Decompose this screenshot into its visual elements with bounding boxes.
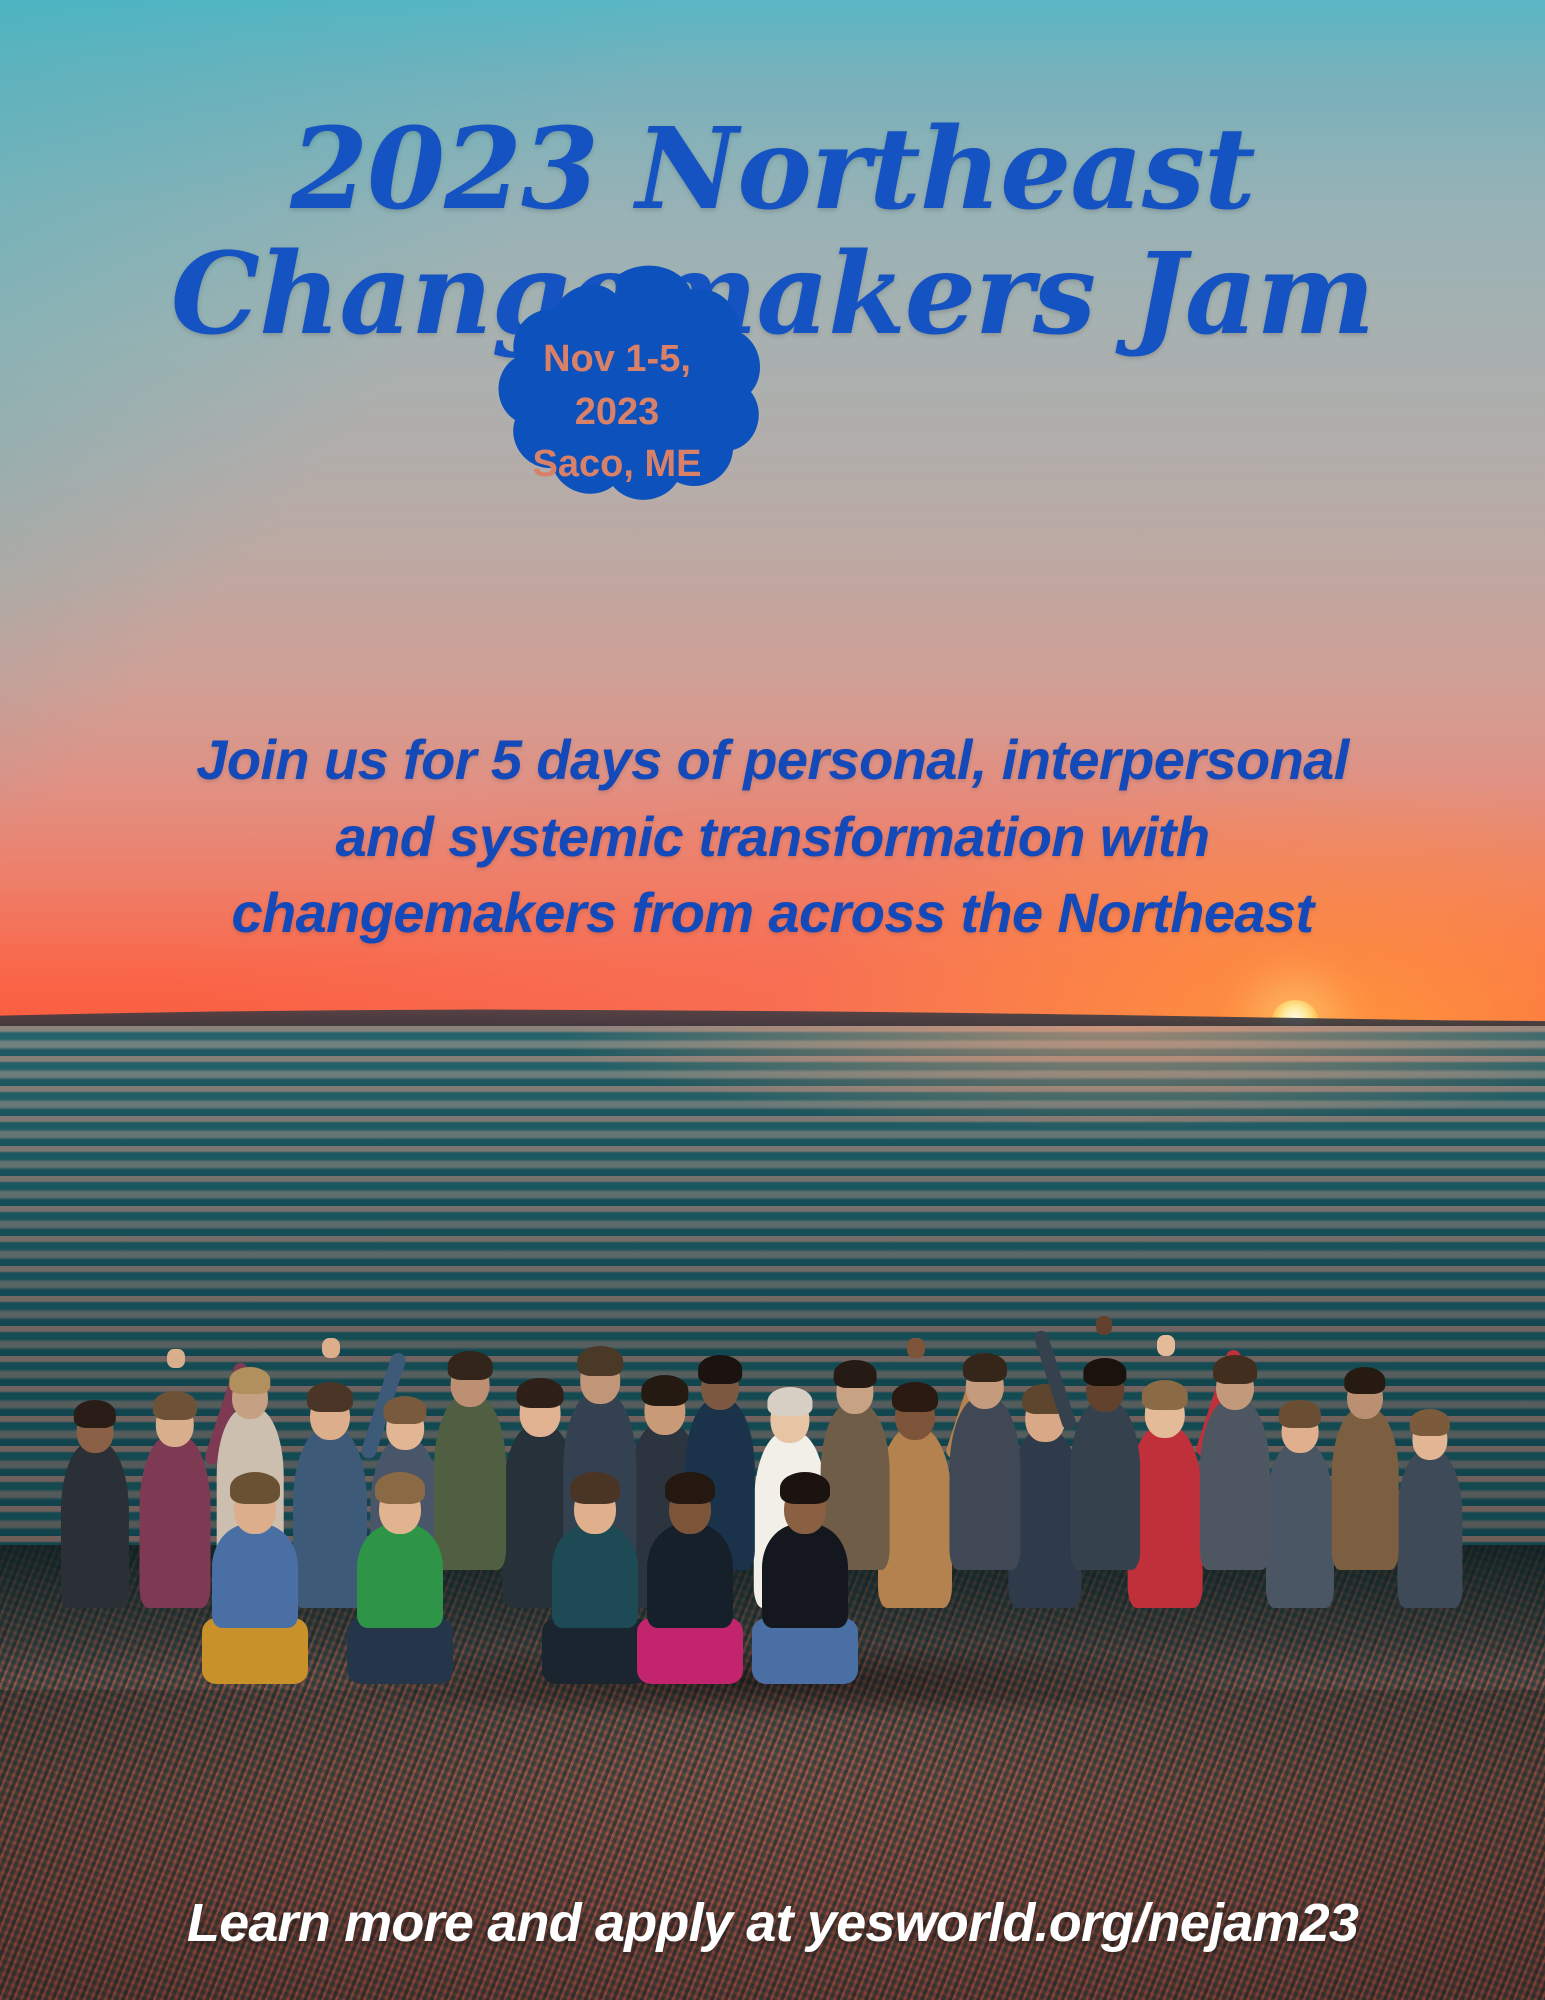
person-hair: [448, 1351, 493, 1380]
person-hair: [963, 1353, 1007, 1382]
page-title: 2023 Northeast Changemakers Jam: [0, 107, 1545, 358]
description-line-3: changemakers from across the Northeast: [34, 875, 1511, 952]
person-torso: [647, 1524, 733, 1628]
title-line-1: 2023 Northeast: [40, 107, 1505, 232]
badge-line-location: Saco, ME: [533, 438, 702, 490]
event-poster: 2023 Northeast Changemakers Jam Nov 1-5,…: [0, 0, 1545, 2000]
photo-person: [58, 1304, 132, 1608]
person-torso: [762, 1524, 848, 1628]
photo-person-seated: [540, 1454, 650, 1684]
person-hair: [1344, 1367, 1385, 1394]
person-raised-hand: [167, 1349, 184, 1368]
person-hair: [780, 1472, 830, 1504]
photo-person-seated: [200, 1454, 310, 1684]
person-torso: [1397, 1450, 1462, 1608]
person-torso: [1200, 1399, 1270, 1570]
person-torso: [1070, 1401, 1140, 1570]
person-hair: [834, 1360, 877, 1388]
description-line-2: and systemic transformation with: [34, 799, 1511, 876]
photo-person-seated: [750, 1454, 860, 1684]
description-line-1: Join us for 5 days of personal, interper…: [34, 722, 1511, 799]
person-torso: [552, 1524, 638, 1628]
person-torso: [357, 1524, 443, 1628]
person-hair: [229, 1367, 270, 1394]
call-to-action-text: Learn more and apply at yesworld.org/nej…: [0, 1892, 1545, 1954]
person-hair: [74, 1400, 116, 1428]
person-hair: [1410, 1409, 1450, 1435]
event-description: Join us for 5 days of personal, interper…: [0, 722, 1545, 952]
badge-text: Nov 1-5, 2023 Saco, ME: [467, 262, 767, 562]
person-hair: [767, 1387, 812, 1416]
photo-person-seated: [635, 1454, 745, 1684]
photo-person: [1197, 1257, 1273, 1571]
person-hair: [698, 1355, 742, 1384]
person-raised-hand: [907, 1338, 925, 1358]
photo-person: [1067, 1260, 1142, 1570]
person-hair: [577, 1346, 623, 1376]
group-photo-changemakers: [0, 1100, 1545, 1720]
person-torso: [1266, 1442, 1334, 1608]
person-raised-hand: [1096, 1316, 1113, 1335]
person-torso: [212, 1524, 298, 1628]
badge-line-dates: Nov 1-5,: [543, 333, 691, 385]
photo-person: [1329, 1273, 1401, 1570]
person-torso: [1332, 1408, 1399, 1570]
person-hair: [1142, 1380, 1188, 1410]
person-torso: [949, 1397, 1020, 1570]
badge-line-year: 2023: [575, 386, 660, 438]
person-hair: [153, 1391, 197, 1420]
photo-person: [1263, 1304, 1337, 1608]
person-hair: [1083, 1358, 1126, 1386]
person-hair: [1279, 1400, 1321, 1428]
title-line-2: Changemakers Jam: [40, 232, 1505, 357]
photo-person: [947, 1253, 1024, 1570]
date-location-badge: Nov 1-5, 2023 Saco, ME: [467, 262, 767, 562]
photo-person: [1395, 1318, 1465, 1608]
person-hair: [1213, 1355, 1257, 1384]
person-hair: [892, 1382, 938, 1412]
person-raised-hand: [322, 1338, 340, 1358]
person-hair: [383, 1396, 426, 1424]
person-hair: [665, 1472, 715, 1504]
person-hair: [230, 1472, 280, 1504]
person-hair: [570, 1472, 620, 1504]
photo-person-seated: [345, 1454, 455, 1684]
person-hair: [375, 1472, 425, 1504]
person-raised-hand: [1157, 1335, 1175, 1355]
person-hair: [517, 1378, 564, 1409]
person-torso: [61, 1442, 129, 1608]
person-hair: [307, 1382, 353, 1412]
